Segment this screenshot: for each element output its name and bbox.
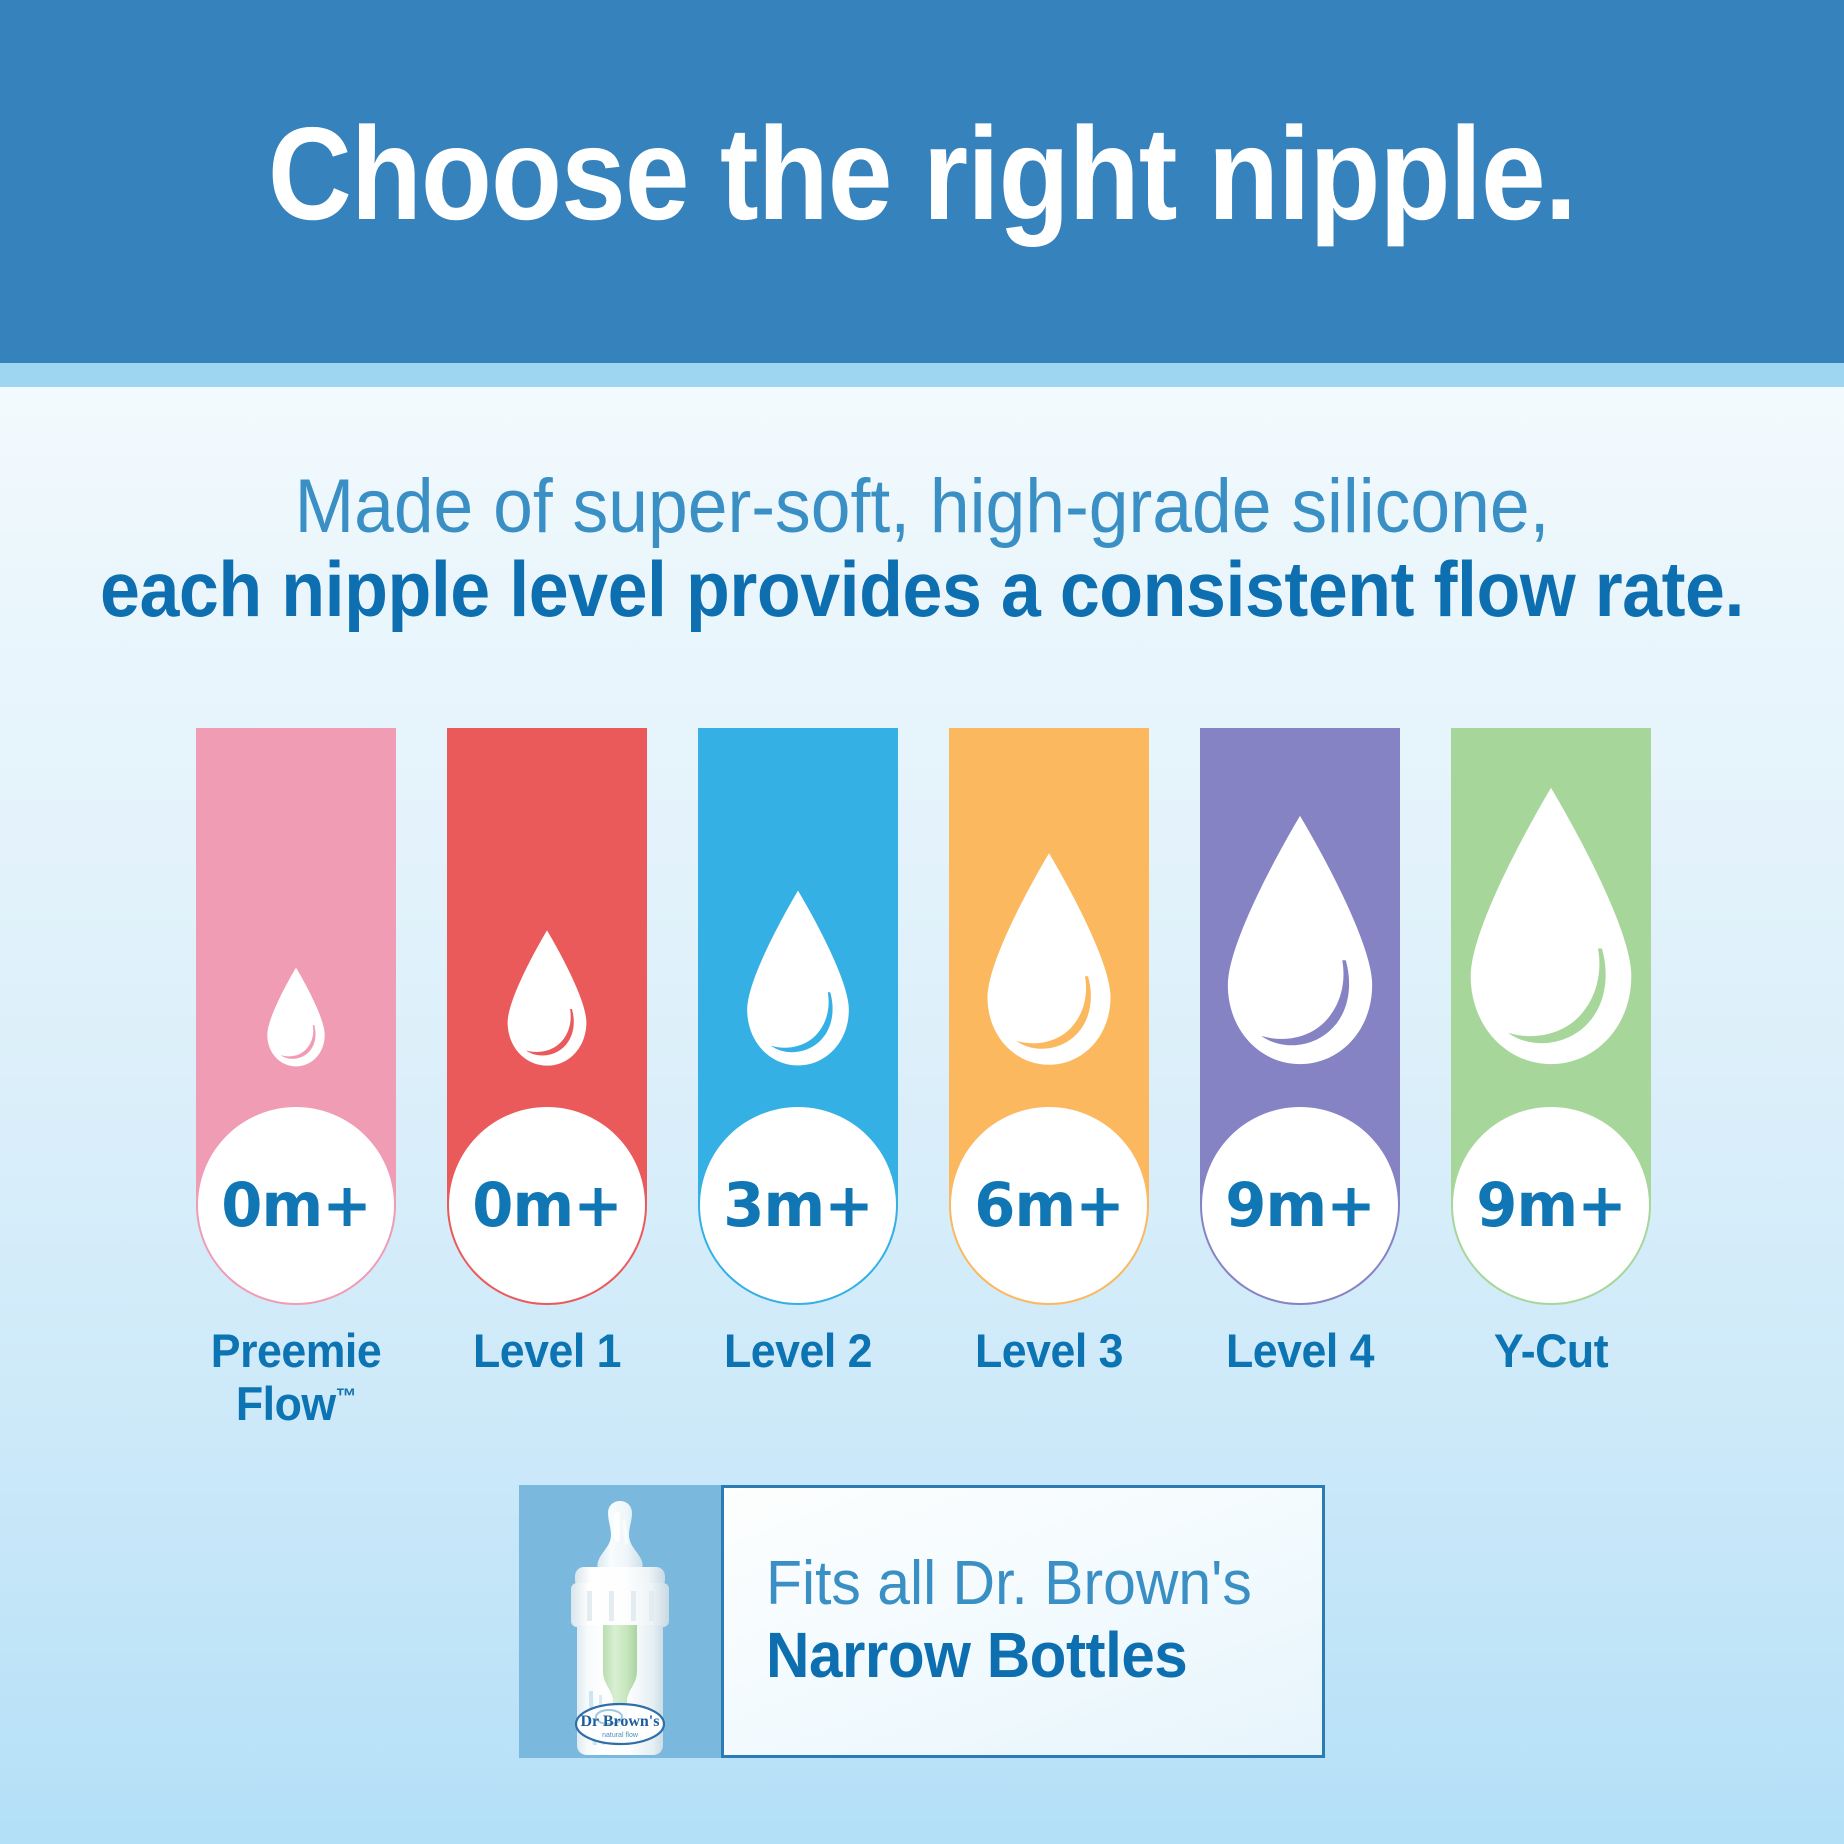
drop-wrap-level-1 [447, 928, 647, 1068]
page-title: Choose the right nipple. [111, 108, 1734, 240]
subtitle-block: Made of super-soft, high-grade silicone,… [0, 468, 1844, 633]
trademark-mark: ™ [336, 1383, 356, 1408]
age-badge-label: 0m+ [221, 1175, 371, 1236]
drop-wrap-preemie [196, 966, 396, 1068]
caption-line-1: Preemie [211, 1324, 381, 1377]
caption-y-cut: Y-Cut [1456, 1325, 1646, 1378]
age-badge-level-3: 6m+ [951, 1107, 1147, 1303]
flow-level-column-preemie[interactable]: 0m+ [196, 728, 396, 1305]
caption-level-4: Level 4 [1205, 1325, 1395, 1378]
subtitle-line-1: Made of super-soft, high-grade silicone, [55, 468, 1788, 546]
caption-preemie: Preemie Flow™ [201, 1325, 391, 1430]
age-badge-level-2: 3m+ [700, 1107, 896, 1303]
fits-text-panel: Fits all Dr. Brown's Narrow Bottles [721, 1485, 1325, 1758]
age-badge-label: 9m+ [1476, 1175, 1626, 1236]
age-badge-label: 3m+ [723, 1175, 873, 1236]
baby-bottle-icon: Dr Brown's natural flow [541, 1495, 699, 1757]
flow-level-column-level-4[interactable]: 9m+ [1200, 728, 1400, 1305]
caption-level-2: Level 2 [703, 1325, 893, 1378]
drop-wrap-y-cut [1451, 784, 1651, 1068]
flow-level-column-level-2[interactable]: 3m+ [698, 728, 898, 1305]
flow-level-columns: 0m+ 0m+ 3m+ [196, 728, 1652, 1305]
poster-root: Choose the right nipple. Made of super-s… [0, 0, 1844, 1844]
caption-level-1: Level 1 [452, 1325, 642, 1378]
fits-line-1: Fits all Dr. Brown's [766, 1551, 1294, 1618]
flow-level-column-y-cut[interactable]: 9m+ [1451, 728, 1651, 1305]
flow-level-column-level-1[interactable]: 0m+ [447, 728, 647, 1305]
caption-level-3: Level 3 [954, 1325, 1144, 1378]
flow-level-column-level-3[interactable]: 6m+ [949, 728, 1149, 1305]
svg-text:natural flow: natural flow [602, 1732, 639, 1739]
drop-wrap-level-3 [949, 850, 1149, 1068]
age-badge-y-cut: 9m+ [1453, 1107, 1649, 1303]
column-captions: Preemie Flow™ Level 1 Level 2 Level 3 Le… [196, 1325, 1652, 1455]
water-drop-icon [1212, 812, 1388, 1068]
age-badge-label: 9m+ [1225, 1175, 1375, 1236]
water-drop-icon [499, 928, 595, 1068]
subtitle-line-2: each nipple level provides a consistent … [74, 546, 1770, 633]
age-badge-level-4: 9m+ [1202, 1107, 1398, 1303]
bottle-photo-panel: Dr Brown's natural flow [519, 1485, 721, 1758]
age-badge-level-1: 0m+ [449, 1107, 645, 1303]
water-drop-icon [1453, 784, 1649, 1068]
drop-wrap-level-4 [1200, 812, 1400, 1068]
svg-text:Dr Brown's: Dr Brown's [581, 1713, 660, 1730]
caption-line-2: Flow [236, 1377, 336, 1430]
accent-band [0, 363, 1844, 387]
water-drop-icon [736, 888, 860, 1068]
fits-narrow-bottles-card: Dr Brown's natural flow Fits all Dr. Bro… [519, 1485, 1325, 1758]
drop-wrap-level-2 [698, 888, 898, 1068]
water-drop-icon [261, 966, 331, 1068]
age-badge-label: 0m+ [472, 1175, 622, 1236]
fits-line-2: Narrow Bottles [766, 1618, 1289, 1692]
age-badge-label: 6m+ [974, 1175, 1124, 1236]
age-badge-preemie: 0m+ [198, 1107, 394, 1303]
water-drop-icon [974, 850, 1124, 1068]
